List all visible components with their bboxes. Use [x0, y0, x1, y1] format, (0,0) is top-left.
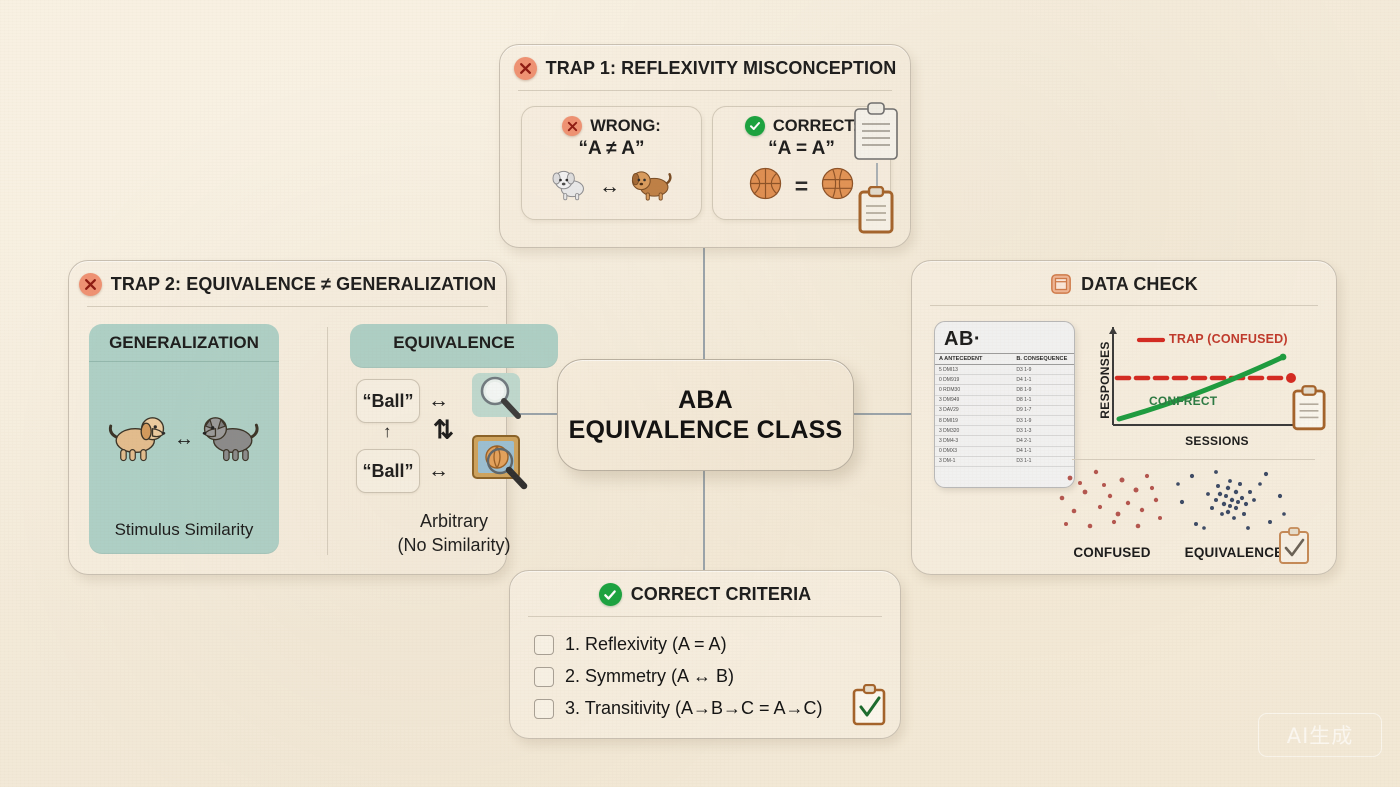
arrow-up: ↑: [383, 423, 392, 440]
panel-data-check[interactable]: DATA CHECK AB· A ANTECEDENT B. CONSEQUEN…: [911, 260, 1337, 575]
clipboard-outline-icon: [852, 101, 900, 168]
diagram-canvas: TRAP 1: REFLEXIVITY MISCONCEPTION WRONG:…: [0, 0, 1400, 787]
trap1-title: TRAP 1: REFLEXIVITY MISCONCEPTION: [546, 58, 897, 79]
table-cell: D3 1-1: [1016, 458, 1031, 464]
table-header-cell: A ANTECEDENT: [939, 356, 1012, 362]
connector-top: [703, 246, 705, 360]
center-node-text: ABA EQUIVALENCE CLASS: [569, 385, 843, 446]
center-node-line2: EQUIVALENCE CLASS: [569, 415, 843, 446]
center-node[interactable]: ABA EQUIVALENCE CLASS: [557, 359, 854, 471]
table-row: 0 DM919D4 1-1: [935, 375, 1074, 385]
clipboard-brown-icon: [858, 186, 894, 239]
ball-node-top[interactable]: “Ball”: [356, 379, 420, 423]
arrow-top-horizontal: ↔: [428, 390, 449, 411]
table-cell: 3 DAV29: [939, 407, 1012, 413]
table-row: 0 RDM30D8 1-9: [935, 385, 1074, 395]
trap1-wrong-card[interactable]: WRONG: “A ≠ A” ↔: [521, 106, 702, 220]
datacheck-section-rule: [1072, 459, 1315, 460]
panel-trap-1[interactable]: TRAP 1: REFLEXIVITY MISCONCEPTION WRONG:…: [499, 44, 911, 248]
table-body: 5 DMI13D3 1-90 DM919D4 1-10 RDM30D8 1-93…: [935, 365, 1074, 467]
ab-data-table[interactable]: AB· A ANTECEDENT B. CONSEQUENCE 5 DMI13D…: [934, 321, 1075, 488]
table-cell: 5 DMI13: [939, 367, 1012, 373]
criteria-list: 1. Reflexivity (A = A)2. Symmetry (A ↔ B…: [510, 617, 900, 719]
table-cell: 3 DM4-3: [939, 438, 1012, 444]
table-row: 8 DMI19D3 1-9: [935, 416, 1074, 426]
chart-legend-trap: TRAP (CONFUSED): [1169, 332, 1288, 346]
generalization-rule: [89, 361, 279, 362]
check-circle-icon: [745, 116, 765, 136]
table-row: 3 DM949D8 1-1: [935, 396, 1074, 406]
table-cell: D4 1-1: [1016, 377, 1031, 383]
column-divider: [327, 327, 328, 555]
magnifying-glass-emoji: [472, 373, 526, 428]
table-cell: 0 RDM30: [939, 387, 1012, 393]
panel-trap-2[interactable]: TRAP 2: EQUIVALENCE ≠ GENERALIZATION GEN…: [68, 260, 507, 575]
table-header-cell: B. CONSEQUENCE: [1016, 356, 1067, 362]
equivalence-diagram: “Ball” “Ball” ↑ ↔ ↔ ⇅: [350, 379, 558, 499]
criteria-checkbox[interactable]: [534, 635, 554, 655]
trap1-wrong-header: WRONG:: [522, 107, 701, 136]
table-cell: D3 1-9: [1016, 367, 1031, 373]
criteria-item-label: 3. Transitivity (A→B→C = A→C): [565, 698, 823, 719]
scatter-equivalence: EQUIVALENCE: [1170, 466, 1298, 536]
table-cell: 3 DM320: [939, 428, 1012, 434]
gray-dog-illustration: [200, 410, 260, 467]
table-corner-label: AB·: [935, 322, 1074, 353]
tan-dog-illustration: [108, 410, 168, 467]
center-node-line1: ABA: [569, 385, 843, 416]
check-circle-icon: [599, 583, 622, 606]
equivalence-caption-line2: (No Similarity): [350, 535, 558, 556]
responses-sessions-chart: RESPONSES TRAP (CONFUSED) CONFRECT SESSI…: [1087, 321, 1315, 461]
table-cell: 0 DM919: [939, 377, 1012, 383]
scatter-confused: CONFUSED: [1052, 466, 1172, 536]
generalization-panel[interactable]: GENERALIZATION: [89, 324, 279, 554]
trap1-rule: [518, 90, 892, 91]
window-square-icon: [1050, 273, 1072, 295]
table-cell: D3 1-3: [1016, 428, 1031, 434]
table-row: 3 DAV29D9 1-7: [935, 406, 1074, 416]
connector-bottom: [703, 468, 705, 571]
criteria-checkbox[interactable]: [534, 699, 554, 719]
white-dog-emoji: [551, 167, 589, 206]
table-cell: D4 2-1: [1016, 438, 1031, 444]
table-row: 3 DM320D3 1-3: [935, 426, 1074, 436]
trap1-wrong-label: WRONG:: [590, 117, 661, 136]
generalization-caption: Stimulus Similarity: [89, 520, 279, 540]
table-header-row: A ANTECEDENT B. CONSEQUENCE: [935, 353, 1074, 365]
trap2-header: TRAP 2: EQUIVALENCE ≠ GENERALIZATION: [69, 261, 506, 296]
ball-node-bottom[interactable]: “Ball”: [356, 449, 420, 493]
x-circle-icon: [514, 57, 537, 80]
panel-correct-criteria[interactable]: CORRECT CRITERIA 1. Reflexivity (A = A)2…: [509, 570, 901, 739]
arrow-bottom-horizontal: ↔: [428, 460, 449, 481]
table-cell: 0 DMX3: [939, 448, 1012, 454]
chart-xlabel: SESSIONS: [1147, 434, 1287, 448]
criteria-title: CORRECT CRITERIA: [631, 584, 812, 605]
ai-watermark: AI生成: [1258, 713, 1382, 757]
table-cell: D8 1-1: [1016, 397, 1031, 403]
generalization-illustration: ↔: [89, 410, 279, 467]
x-circle-icon: [79, 273, 102, 296]
brown-dog-emoji: [630, 167, 672, 206]
table-row: 0 DMX3D4 1-1: [935, 447, 1074, 457]
datacheck-header: DATA CHECK: [912, 261, 1336, 295]
table-cell: D8 1-9: [1016, 387, 1031, 393]
criteria-header: CORRECT CRITERIA: [510, 571, 900, 606]
table-cell: 8 DMI19: [939, 418, 1012, 424]
equivalence-caption-line1: Arbitrary: [350, 511, 558, 532]
criteria-item-label: 1. Reflexivity (A = A): [565, 634, 727, 655]
trap1-correct-relation: =: [795, 173, 808, 200]
arrow-vertical-double: ⇅: [433, 418, 454, 443]
equivalence-heading: EQUIVALENCE: [350, 324, 558, 353]
table-cell: D9 1-7: [1016, 407, 1031, 413]
x-circle-icon: [562, 116, 582, 136]
connector-right: [851, 413, 912, 415]
generalization-heading: GENERALIZATION: [89, 324, 279, 353]
chart-legend-correct: CONFRECT: [1149, 394, 1217, 408]
table-cell: 3 DM949: [939, 397, 1012, 403]
table-cell: D3 1-9: [1016, 418, 1031, 424]
scatter-confused-dots: [1052, 466, 1172, 536]
trap1-wrong-relation: ↔: [599, 176, 620, 197]
criteria-checkbox[interactable]: [534, 667, 554, 687]
basketball-emoji: [821, 167, 854, 205]
scatter-equivalence-dots: [1170, 466, 1298, 536]
table-cell: D4 1-1: [1016, 448, 1031, 454]
datacheck-title: DATA CHECK: [1081, 274, 1198, 295]
criteria-item[interactable]: 2. Symmetry (A ↔ B): [534, 666, 900, 687]
trap1-wrong-formula: “A ≠ A”: [522, 138, 701, 160]
table-cell: 3 DM-1: [939, 458, 1012, 464]
datacheck-rule: [930, 305, 1318, 306]
trap1-header: TRAP 1: REFLEXIVITY MISCONCEPTION: [500, 45, 910, 80]
clipboard-check-icon: [852, 684, 886, 731]
trap2-rule: [87, 306, 488, 307]
clipboard-check-icon: [1278, 527, 1310, 570]
criteria-item-label: 2. Symmetry (A ↔ B): [565, 666, 734, 687]
basketball-emoji: [749, 167, 782, 205]
trap1-wrong-icons: ↔: [522, 167, 701, 206]
trap1-correct-label: CORRECT:: [773, 117, 858, 136]
ai-watermark-text: AI生成: [1287, 720, 1354, 750]
table-row: 3 DM4-3D4 2-1: [935, 436, 1074, 446]
clipboard-brown-icon: [1292, 385, 1326, 436]
criteria-item[interactable]: 3. Transitivity (A→B→C = A→C): [534, 698, 900, 719]
criteria-item[interactable]: 1. Reflexivity (A = A): [534, 634, 900, 655]
framed-ball-magnifier-emoji: [472, 435, 530, 496]
scatter-confused-label: CONFUSED: [1052, 545, 1172, 560]
generalization-relation: ↔: [174, 429, 194, 449]
table-row: 5 DMI13D3 1-9: [935, 365, 1074, 375]
trap2-title: TRAP 2: EQUIVALENCE ≠ GENERALIZATION: [111, 274, 497, 295]
